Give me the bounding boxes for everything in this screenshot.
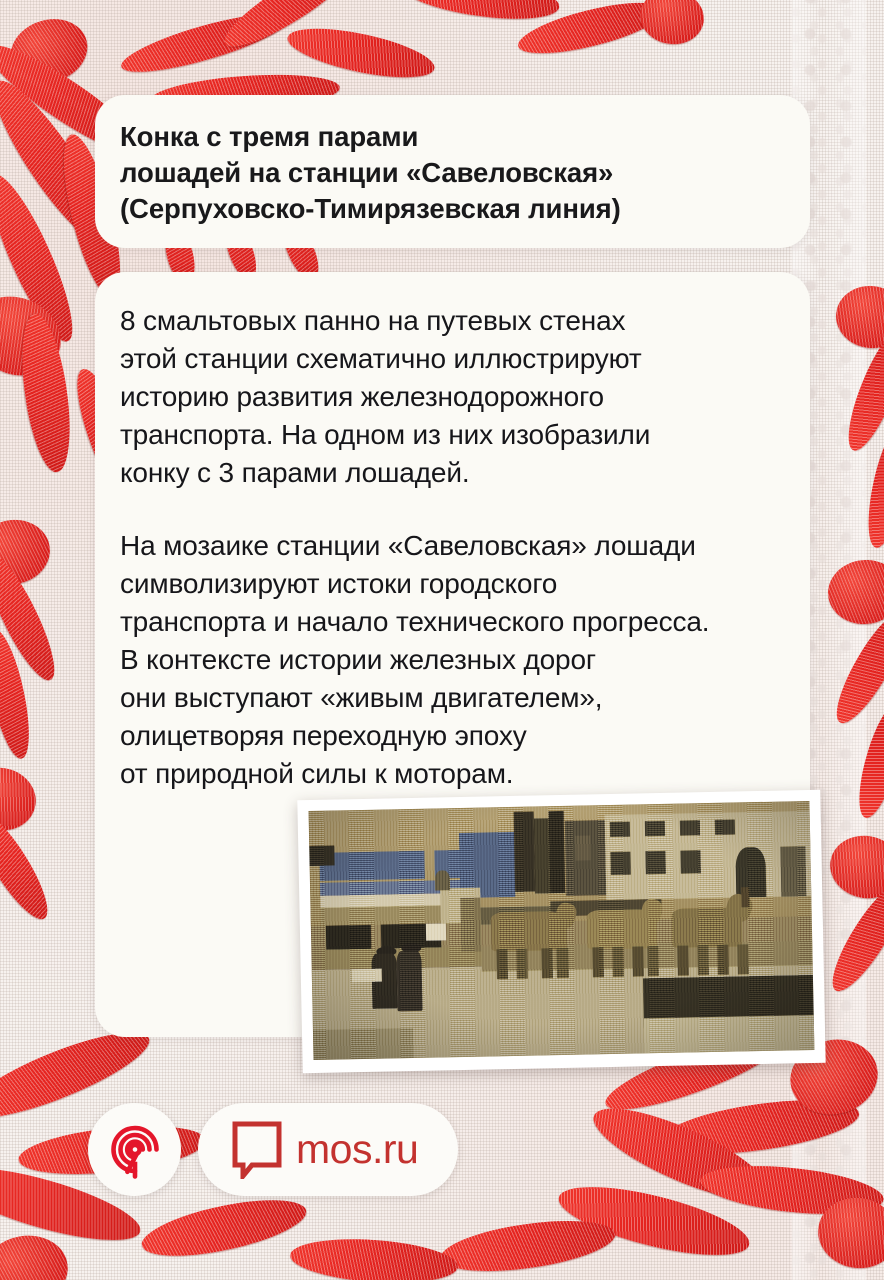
moscow-logo-badge[interactable] [88,1103,181,1196]
title-card: Конка с тремя парами лошадей на станции … [95,95,810,248]
mosaic-photo [297,790,825,1073]
page-title: Конка с тремя парами лошадей на станции … [120,119,792,227]
body-paragraph-1: 8 смальтовых панно на путевых стенах это… [120,302,796,492]
moscow-pin-icon [105,1119,165,1181]
speech-bubble-icon [232,1121,282,1179]
mosru-label: mos.ru [296,1129,418,1170]
mosru-logo-badge[interactable]: mos.ru [198,1103,458,1196]
mosaic-image [309,801,815,1060]
mosaic-vignette [309,801,815,1060]
poster-canvas: Конка с тремя парами лошадей на станции … [0,0,884,1280]
body-paragraph-2: На мозаике станции «Савеловская» лошади … [120,527,796,793]
